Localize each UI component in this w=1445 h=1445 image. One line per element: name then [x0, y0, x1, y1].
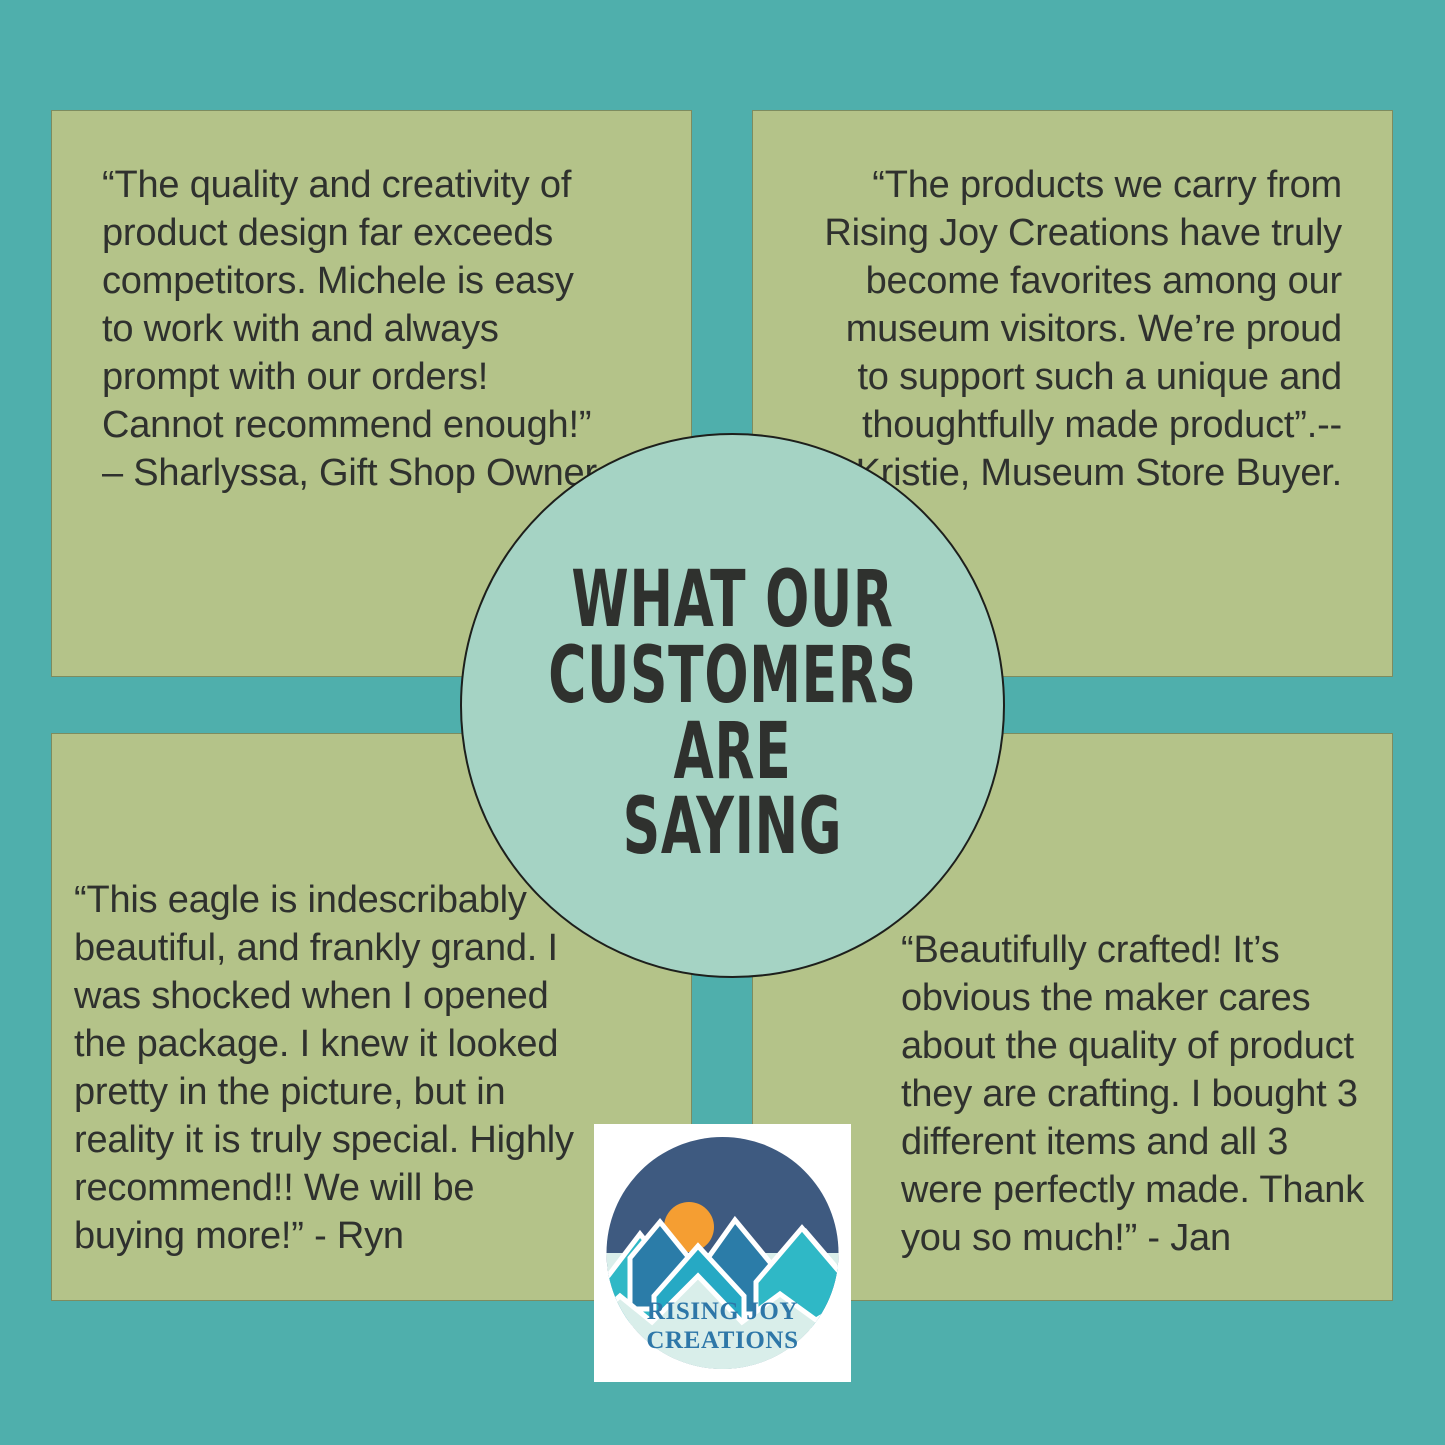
logo-text-line-1: RISING JOY	[647, 1298, 798, 1325]
testimonial-quote-bottom-right: “Beautifully crafted! It’s obvious the m…	[901, 926, 1371, 1262]
center-headline-circle: WHAT OUR CUSTOMERS ARE SAYING	[460, 433, 1005, 978]
testimonial-quote-top-right: “The products we carry from Rising Joy C…	[822, 161, 1342, 497]
logo-icon: RISING JOY CREATIONS	[594, 1124, 851, 1382]
brand-logo: RISING JOY CREATIONS	[594, 1124, 851, 1382]
logo-text-line-2: CREATIONS	[646, 1327, 798, 1354]
testimonial-quote-bottom-left: “This eagle is indescribably beautiful, …	[74, 876, 594, 1261]
testimonial-quote-top-left: “The quality and creativity of product d…	[102, 161, 602, 497]
testimonial-graphic: “The quality and creativity of product d…	[0, 0, 1445, 1445]
page-title: WHAT OUR CUSTOMERS ARE SAYING	[532, 563, 932, 866]
